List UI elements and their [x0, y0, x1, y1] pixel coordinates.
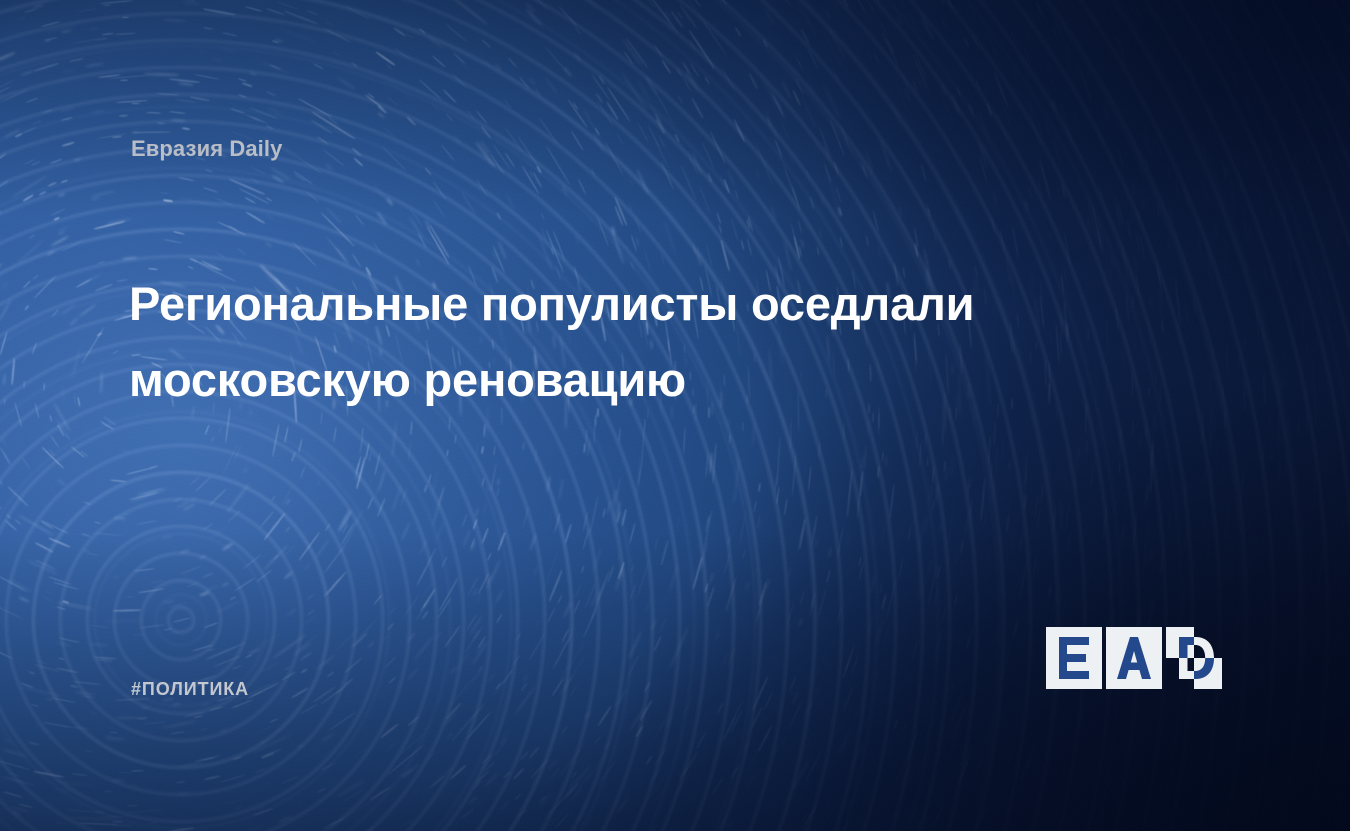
social-share-card: Евразия Daily Региональные популисты осе… [0, 0, 1350, 831]
letter-d-icon-part [1166, 627, 1194, 658]
letter-e-icon [1046, 627, 1102, 689]
logo-quadrant-bottom-left [1166, 658, 1194, 689]
headline-line-1: Региональные популисты оседлали [129, 266, 1129, 342]
logo-quadrant-top-right [1194, 627, 1222, 658]
logo-quadrant-top-left [1166, 627, 1194, 658]
logo-tile-a [1106, 627, 1162, 689]
category-tag[interactable]: #ПОЛИТИКА [131, 679, 249, 700]
headline-line-2: московскую реновацию [129, 342, 1129, 418]
letter-d-icon-part [1194, 658, 1222, 689]
logo-quadrant-bottom-right [1194, 658, 1222, 689]
letter-d-icon-part [1166, 658, 1194, 689]
eadaily-logo[interactable] [1046, 627, 1222, 689]
card-content: Евразия Daily Региональные популисты осе… [0, 0, 1350, 831]
logo-tile-e [1046, 627, 1102, 689]
letter-a-icon [1106, 627, 1162, 689]
brand-name: Евразия Daily [131, 136, 282, 162]
letter-d-icon-part [1194, 627, 1222, 658]
page-title: Региональные популисты оседлали московск… [129, 266, 1129, 418]
logo-tile-d [1166, 627, 1222, 689]
